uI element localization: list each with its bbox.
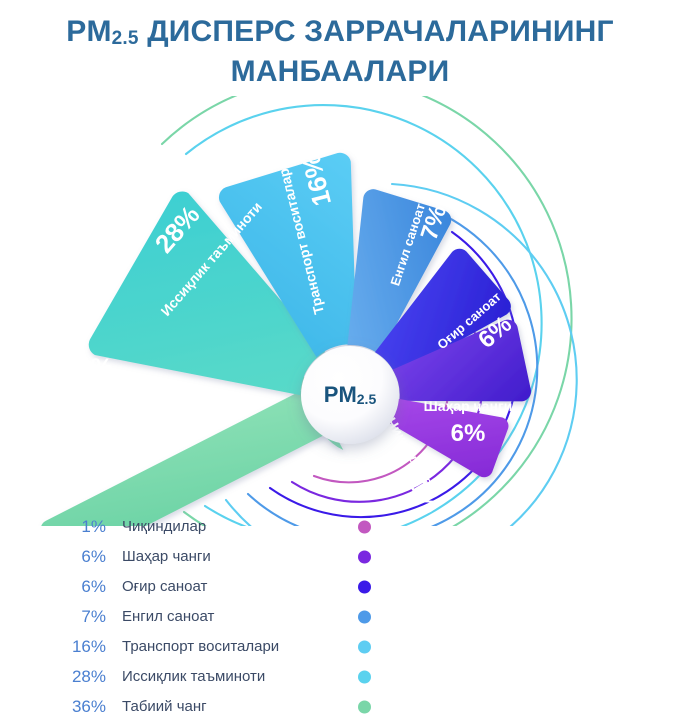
legend-percent: 7% xyxy=(60,607,122,627)
legend-swatch-wrap xyxy=(358,543,378,570)
legend-percent: 1% xyxy=(60,517,122,537)
title-pm-text: PM xyxy=(66,15,111,48)
slice-label-shahar-changi-pct: 6% xyxy=(451,420,486,447)
legend-swatch-wrap xyxy=(358,513,378,540)
legend-swatch-wrap xyxy=(358,693,378,720)
legend-item-yengil-sanoat[interactable]: 7% Енгил саноат xyxy=(60,603,620,630)
legend-label: Оғир саноат xyxy=(122,578,207,595)
legend-color-dot xyxy=(358,520,371,533)
legend-percent: 6% xyxy=(60,547,122,567)
legend-label: Шаҳар чанги xyxy=(122,548,211,565)
title-line-1: PM2.5 ДИСПЕРС ЗАРРАЧАЛАРИНИНГ xyxy=(66,15,614,48)
slice-label-shahar-changi-text: Шаҳар чанги xyxy=(424,398,513,414)
legend: 1% Чиқиндилар 6% Шаҳар чанги 6% Оғир сан… xyxy=(0,505,680,715)
slice-label-tabiiy-chang-text: Табиий чанг xyxy=(46,385,131,401)
center-hub xyxy=(301,346,399,444)
slice-label-tabiiy-chang-pct: 36% xyxy=(63,354,113,382)
legend-item-shahar-changi[interactable]: 6% Шаҳар чанги xyxy=(60,543,620,570)
legend-color-dot xyxy=(358,670,371,683)
title-line-1-rest: ДИСПЕРС ЗАРРАЧАЛАРИНИНГ xyxy=(139,15,614,48)
infographic-root: PM2.5 ДИСПЕРС ЗАРРАЧАЛАРИНИНГ МАНБААЛАРИ xyxy=(0,0,680,727)
legend-item-transport-vositalari[interactable]: 16% Транспорт воситалари xyxy=(60,633,620,660)
legend-swatch-wrap xyxy=(358,573,378,600)
legend-item-ogir-sanoat[interactable]: 6% Оғир саноат xyxy=(60,573,620,600)
legend-item-tabiiy-chang[interactable]: 36% Табиий чанг xyxy=(60,693,620,720)
legend-item-chiqindilar[interactable]: 1% Чиқиндилар xyxy=(60,513,620,540)
legend-color-dot xyxy=(358,640,371,653)
legend-color-dot xyxy=(358,700,371,713)
pie-chart: 36% Табиий чанг 28% Иссиқлик таъминоти 1… xyxy=(0,96,680,526)
legend-color-dot xyxy=(358,550,371,563)
legend-percent: 28% xyxy=(60,667,122,687)
legend-item-issiqlik-taminoti[interactable]: 28% Иссиқлик таъминоти xyxy=(60,663,620,690)
legend-label: Табиий чанг xyxy=(122,698,207,715)
title-pm-subscript: 2.5 xyxy=(112,28,139,49)
legend-label: Иссиқлик таъминоти xyxy=(122,668,265,685)
legend-percent: 6% xyxy=(60,577,122,597)
page-title: PM2.5 ДИСПЕРС ЗАРРАЧАЛАРИНИНГ МАНБААЛАРИ xyxy=(0,14,680,90)
legend-swatch-wrap xyxy=(358,603,378,630)
legend-color-dot xyxy=(358,610,371,623)
legend-percent: 16% xyxy=(60,637,122,657)
legend-label: Енгил саноат xyxy=(122,608,214,625)
legend-color-dot xyxy=(358,580,371,593)
title-line-2: МАНБААЛАРИ xyxy=(0,54,680,90)
legend-label: Транспорт воситалари xyxy=(122,638,279,655)
center-hub-circle xyxy=(301,346,399,444)
legend-swatch-wrap xyxy=(358,663,378,690)
legend-label: Чиқиндилар xyxy=(122,518,206,535)
pie-chart-svg: 36% Табиий чанг 28% Иссиқлик таъминоти 1… xyxy=(0,96,680,526)
legend-percent: 36% xyxy=(60,697,122,717)
legend-swatch-wrap xyxy=(358,633,378,660)
